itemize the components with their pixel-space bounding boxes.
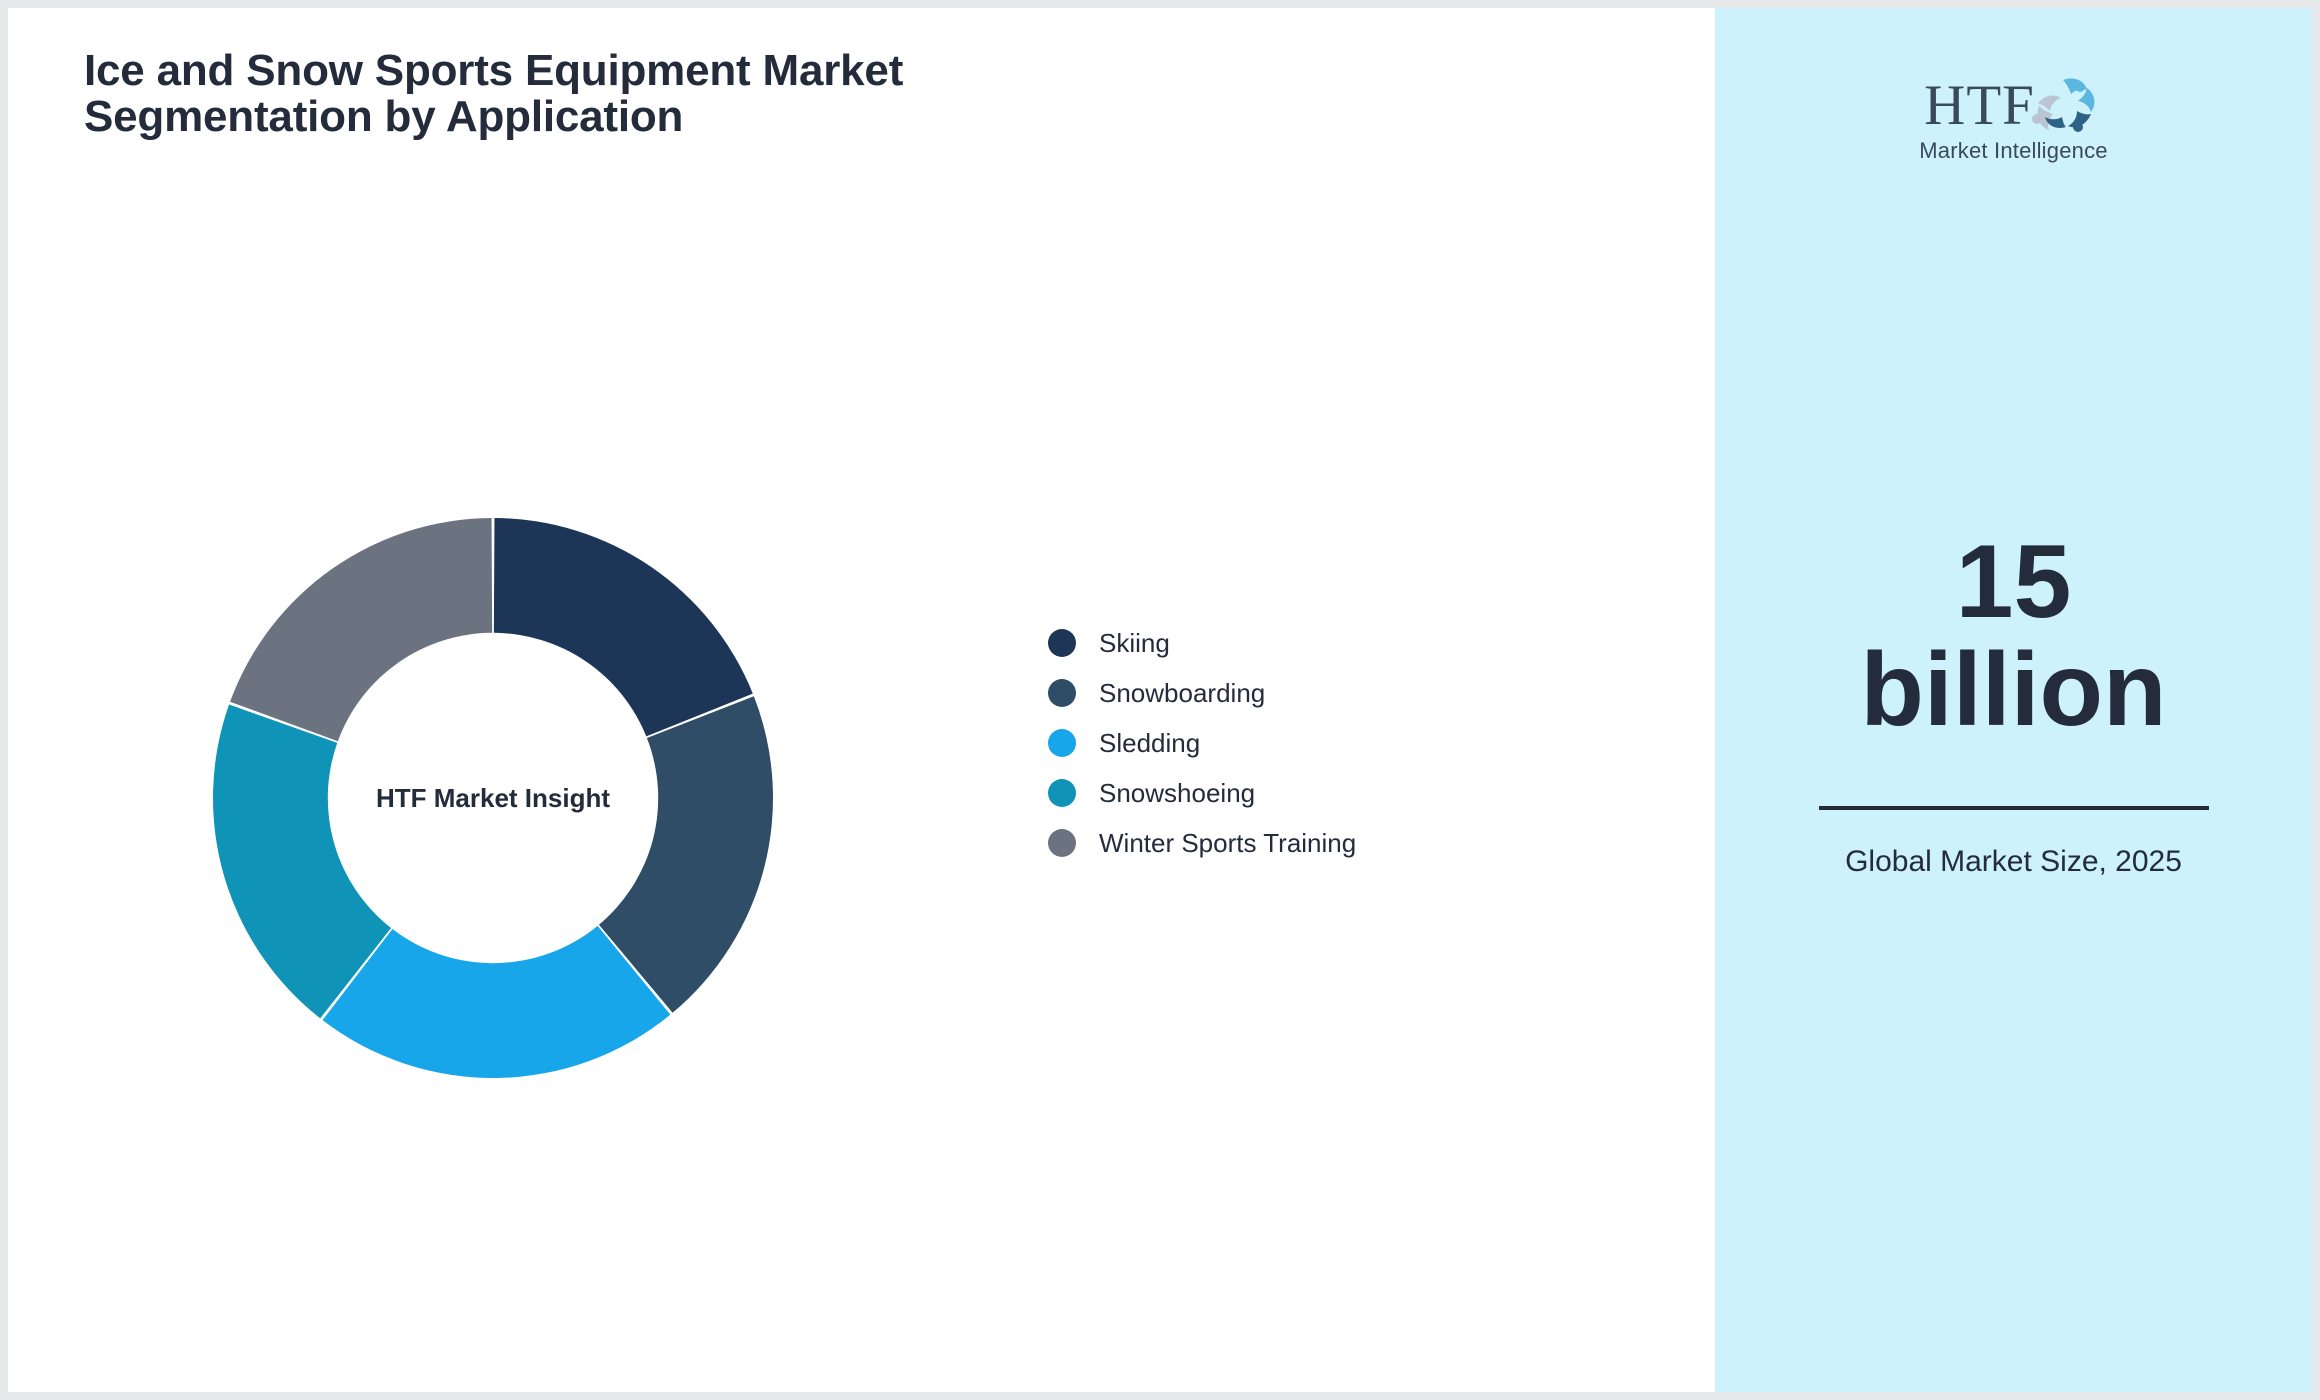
- donut-chart: HTF Market Insight: [203, 508, 783, 1088]
- legend-item-label: Snowshoeing: [1099, 778, 1255, 809]
- sidebar-panel: HTF Market Intelligence 15 billion: [1715, 8, 2312, 1392]
- stat-caption: Global Market Size, 2025: [1844, 846, 2184, 878]
- legend-item: Snowshoeing: [1048, 778, 1356, 808]
- legend-swatch-icon: [1048, 779, 1076, 807]
- legend-item: Snowboarding: [1048, 678, 1356, 708]
- legend-item-label: Sledding: [1099, 728, 1200, 759]
- logo-tagline: Market Intelligence: [1919, 138, 2107, 164]
- legend-item: Winter Sports Training: [1048, 828, 1356, 858]
- stat-divider: [1819, 806, 2209, 810]
- chart-legend: SkiingSnowboardingSleddingSnowshoeingWin…: [1048, 628, 1356, 858]
- donut-chart-svg: [203, 508, 783, 1088]
- legend-item: Sledding: [1048, 728, 1356, 758]
- donut-slice[interactable]: [230, 518, 492, 741]
- legend-swatch-icon: [1048, 679, 1076, 707]
- donut-slice[interactable]: [494, 518, 753, 736]
- infographic-card: Ice and Snow Sports Equipment Market Seg…: [8, 8, 2312, 1392]
- legend-item: Skiing: [1048, 628, 1356, 658]
- logo-wordmark: HTF: [1924, 77, 2035, 134]
- legend-item-label: Snowboarding: [1099, 678, 1265, 709]
- page-title: Ice and Snow Sports Equipment Market Seg…: [84, 48, 984, 140]
- legend-swatch-icon: [1048, 829, 1076, 857]
- content-panel: Ice and Snow Sports Equipment Market Seg…: [8, 8, 1715, 1392]
- htf-swirl-icon: [2029, 74, 2103, 136]
- legend-swatch-icon: [1048, 629, 1076, 657]
- stat-block: 15 billion Global Market Size, 2025: [1715, 528, 2312, 879]
- legend-item-label: Skiing: [1099, 628, 1170, 659]
- legend-swatch-icon: [1048, 729, 1076, 757]
- legend-item-label: Winter Sports Training: [1099, 828, 1356, 859]
- brand-logo: HTF Market Intelligence: [1715, 74, 2312, 164]
- logo-row: HTF: [1924, 74, 2103, 136]
- donut-slice-group: [213, 518, 773, 1078]
- stat-value: 15 billion: [1799, 528, 2229, 744]
